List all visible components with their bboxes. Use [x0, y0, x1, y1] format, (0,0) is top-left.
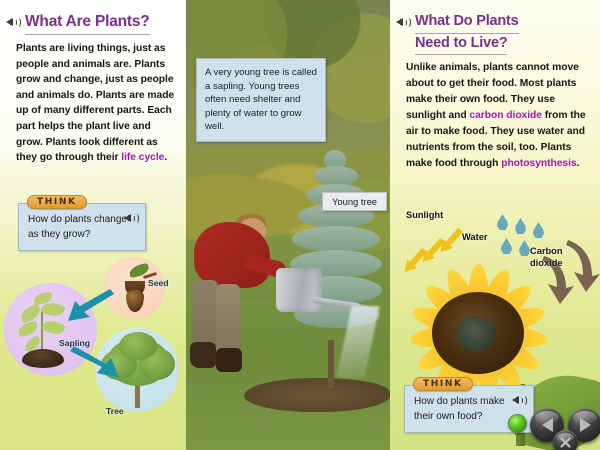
- speaker-icon[interactable]: [396, 16, 411, 29]
- think-tab-label: THINK: [27, 195, 87, 209]
- life-cycle-diagram: Seed Sapling Tree: [0, 250, 186, 450]
- sapling-soil-icon: [22, 349, 64, 368]
- left-panel: What Are Plants? Plants are living thing…: [0, 0, 186, 450]
- water-droplet-icon: [500, 238, 513, 255]
- speaker-icon[interactable]: [124, 212, 139, 225]
- speaker-icon[interactable]: [512, 394, 527, 407]
- photo-person-watering-tree: A very young tree is called a sapling. Y…: [186, 0, 390, 450]
- keyword-carbon-dioxide[interactable]: carbon dioxide: [469, 110, 542, 121]
- page-title-left: What Are Plants?: [25, 12, 150, 35]
- left-heading-row: What Are Plants?: [0, 0, 186, 35]
- diagram-label-water: Water: [462, 232, 488, 242]
- page-title-right-line1: What Do Plants: [415, 12, 519, 34]
- think-question-text: How do plants change as they grow?: [28, 214, 127, 240]
- think-question-body: How do plants change as they grow?: [18, 203, 146, 251]
- page-title-right-line2: Need to Live?: [415, 34, 507, 56]
- photo-person-sweater: [194, 222, 270, 288]
- acorn-nut-icon: [126, 290, 144, 312]
- left-body-text: Plants are living things, just as people…: [0, 35, 186, 166]
- right-panel: What Do Plants Need to Live? Unlike anim…: [390, 0, 600, 450]
- right-heading-row: What Do Plants Need to Live?: [390, 0, 600, 55]
- photo-watering-can: [276, 268, 322, 312]
- photo-label-young-tree: Young tree: [322, 192, 387, 211]
- close-button[interactable]: [553, 430, 578, 450]
- sunflower-disc-center: [456, 316, 496, 352]
- speaker-icon[interactable]: [6, 16, 21, 29]
- think-question-text: How do plants make their own food?: [414, 396, 505, 422]
- lifecycle-label-seed: Seed: [148, 278, 169, 288]
- right-body-text: Unlike animals, plants cannot move about…: [390, 55, 600, 172]
- diagram-label-sunlight: Sunlight: [406, 210, 443, 220]
- photo-person-leg: [192, 280, 218, 350]
- photo-mulch-bed: [244, 378, 390, 412]
- water-droplet-icon: [496, 214, 509, 231]
- page-title-right: What Do Plants Need to Live?: [415, 12, 519, 55]
- keyword-life-cycle[interactable]: life cycle: [121, 152, 164, 163]
- lifecycle-label-tree: Tree: [106, 406, 124, 416]
- green-play-button[interactable]: [508, 414, 527, 433]
- water-droplet-icon: [532, 222, 545, 239]
- sapling-stem-icon: [41, 309, 43, 353]
- forward-arrow-icon: [580, 418, 591, 432]
- think-tab-label: THINK: [413, 377, 473, 391]
- close-x-icon: [560, 437, 571, 448]
- ebook-page: What Are Plants? Plants are living thing…: [0, 0, 600, 450]
- keyword-photosynthesis[interactable]: photosynthesis: [501, 158, 576, 169]
- think-box-left: THINK How do plants change as they grow?: [18, 191, 146, 251]
- lifecycle-label-sapling: Sapling: [59, 338, 90, 348]
- water-droplet-icon: [514, 218, 527, 235]
- photo-person-leg: [216, 284, 240, 354]
- photo-person-boot: [190, 342, 216, 368]
- arrow-seed-to-sapling: [64, 288, 118, 328]
- photo-person-boot: [216, 348, 242, 372]
- arrow-sapling-to-tree: [66, 345, 122, 387]
- diagram-label-carbon-dioxide: Carbon dioxide: [530, 246, 588, 269]
- back-arrow-icon: [542, 418, 553, 432]
- photo-callout-sapling: A very young tree is called a sapling. Y…: [196, 58, 326, 142]
